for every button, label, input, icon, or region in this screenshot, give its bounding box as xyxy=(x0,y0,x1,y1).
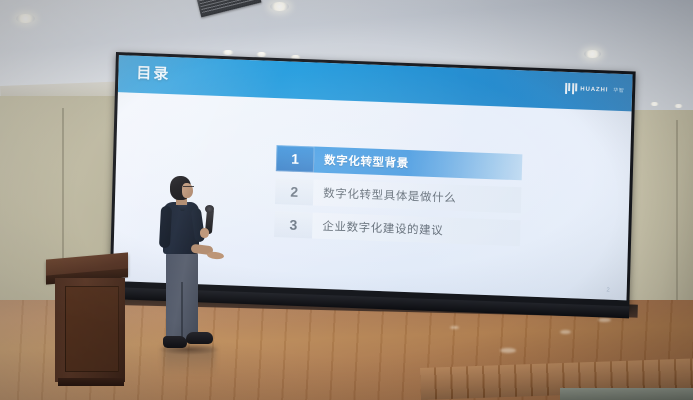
brand-logo: HUAZHI 华智 xyxy=(565,83,624,96)
floor-marking xyxy=(500,348,516,353)
microphone-head-icon xyxy=(205,205,214,213)
brand-subtitle: 华智 xyxy=(613,87,624,94)
presentation-photo: 目录 HUAZHI 华智 1 数字化转型背景 2 数字化转型具体是做什么 xyxy=(0,0,693,400)
speaker-shoe xyxy=(186,332,213,344)
huazhi-logo-icon xyxy=(565,83,577,94)
list-item[interactable]: 2 数字化转型具体是做什么 xyxy=(275,178,522,213)
slide-page-number: 2 xyxy=(606,288,610,294)
floor-reflection-speaker xyxy=(163,346,215,376)
ceiling-light-icon xyxy=(650,102,659,106)
floor-marking xyxy=(598,318,611,322)
toc-number: 2 xyxy=(275,178,314,205)
table-of-contents: 1 数字化转型背景 2 数字化转型具体是做什么 3 企业数字化建设的建议 xyxy=(274,145,523,253)
floor-marking xyxy=(560,330,571,334)
toc-number: 1 xyxy=(276,145,315,172)
podium-front-panel xyxy=(65,286,119,372)
trouser-seam xyxy=(181,282,183,342)
ceiling-light-icon xyxy=(16,14,35,23)
ceiling-light-icon xyxy=(256,52,267,57)
ceiling-light-icon xyxy=(270,2,289,11)
floor-marking xyxy=(450,326,459,329)
toc-label: 企业数字化建设的建议 xyxy=(312,212,521,246)
ceiling-light-icon xyxy=(584,50,601,58)
toc-number: 3 xyxy=(274,211,313,238)
list-item[interactable]: 1 数字化转型背景 xyxy=(276,145,523,180)
speaker-hand xyxy=(200,228,209,238)
brand-name: HUAZHI xyxy=(580,86,608,93)
toc-label: 数字化转型具体是做什么 xyxy=(313,179,522,213)
ceiling-light-icon xyxy=(222,50,234,55)
speaker-shoe xyxy=(163,336,187,348)
toc-label: 数字化转型背景 xyxy=(314,147,523,181)
list-item[interactable]: 3 企业数字化建设的建议 xyxy=(274,211,521,246)
slide-title: 目录 xyxy=(136,62,171,84)
speaker-arm-left xyxy=(159,206,172,249)
podium xyxy=(55,278,125,382)
lower-floor-strip xyxy=(560,388,693,400)
podium-base xyxy=(58,378,124,386)
ceiling-light-icon xyxy=(674,104,683,108)
eyeglasses-icon xyxy=(183,186,194,190)
